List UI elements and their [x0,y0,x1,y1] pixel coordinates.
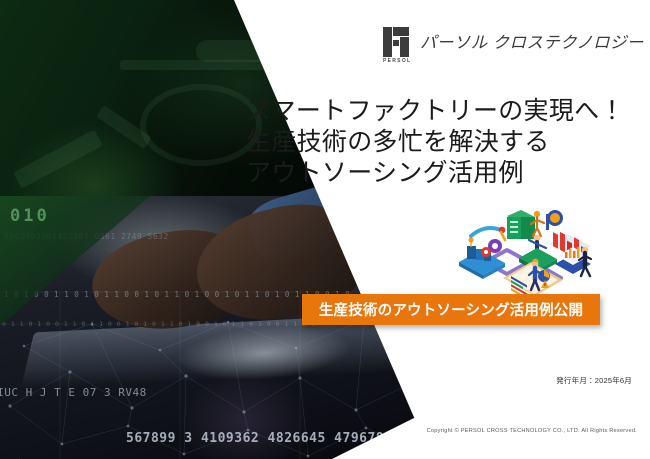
brand-name-text: パーソル クロステクノロジー [420,29,644,53]
copyright-notice: Copyright © PERSOL CROSS TECHNOLOGY CO.,… [427,428,637,434]
brand-logo: PERSOL パーソル クロステクノロジー [383,27,644,57]
persol-mark-svg [383,27,409,57]
green-digit-glyph: 010 [10,206,50,226]
persol-wordmark-caption: PERSOL [383,58,411,64]
badge-label: 生産技術のアウトソーシング活用例公開 [319,299,583,320]
machine-ring-shape [140,84,262,166]
publish-date: 発行年月：2025年6月 [556,375,632,386]
illustration-svg [445,206,595,298]
title-line-3: アウトソーシング活用例 [246,158,625,189]
title-line-2: 生産技術の多忙を解決する [246,127,625,158]
robot-arm-shape [13,129,103,188]
status-badge: 生産技術のアウトソーシング活用例公開 [302,294,600,325]
cover-page: 8562403961452987 0361 2749 5632 0 1 0 1 … [0,0,650,459]
title-line-1: スマートファクトリーの実現へ！ [246,96,625,127]
page-title: スマートファクトリーの実現へ！ 生産技術の多忙を解決する アウトソーシング活用例 [246,96,625,189]
isometric-smart-factory-illustration [445,206,595,298]
persol-square-logo-icon: PERSOL [383,27,409,57]
